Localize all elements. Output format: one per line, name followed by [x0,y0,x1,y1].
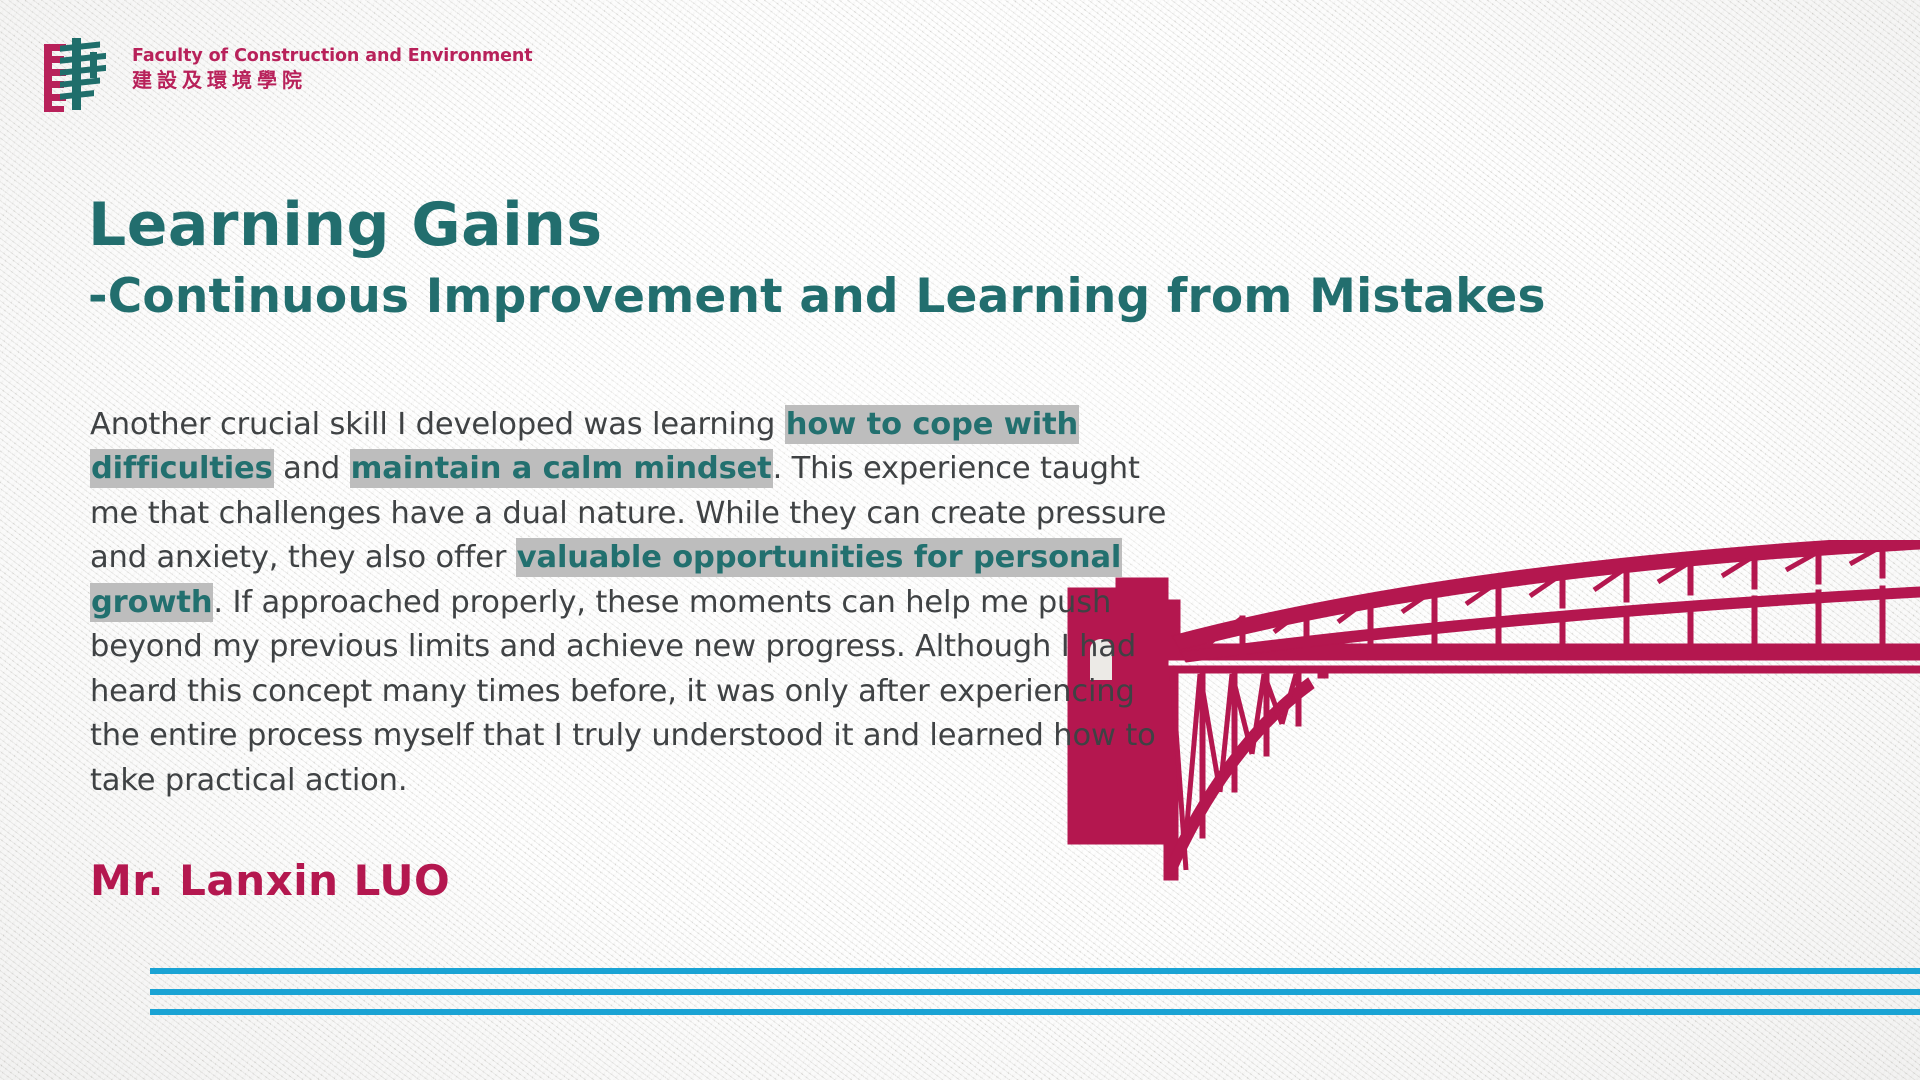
slide-canvas: Faculty of Construction and Environment … [0,0,1920,1080]
footer-rule-2 [150,989,1920,995]
body-text-run: Another crucial skill I developed was le… [90,407,785,442]
body-text-run: and [274,451,350,486]
logo-english-name: Faculty of Construction and Environment [132,47,533,65]
page-title: Learning Gains [88,195,1546,255]
logo-wordmark: Faculty of Construction and Environment … [132,34,533,91]
logo-chinese-name: 建設及環境學院 [132,70,533,91]
fce-building-mark-icon [38,34,118,112]
page-subtitle: -Continuous Improvement and Learning fro… [88,273,1546,320]
highlighted-phrase: maintain a calm mindset [350,449,773,488]
bridge-icon [1060,540,1920,980]
faculty-logo: Faculty of Construction and Environment … [38,34,533,112]
title-group: Learning Gains -Continuous Improvement a… [88,195,1546,320]
footer-rule-3 [150,1009,1920,1015]
testimonial-body: Another crucial skill I developed was le… [90,403,1170,804]
author-name: Mr. Lanxin LUO [90,856,450,905]
harbour-bridge-illustration [1060,540,1920,980]
footer-rule-1 [150,968,1920,974]
body-text-run: . If approached properly, these moments … [90,585,1156,798]
